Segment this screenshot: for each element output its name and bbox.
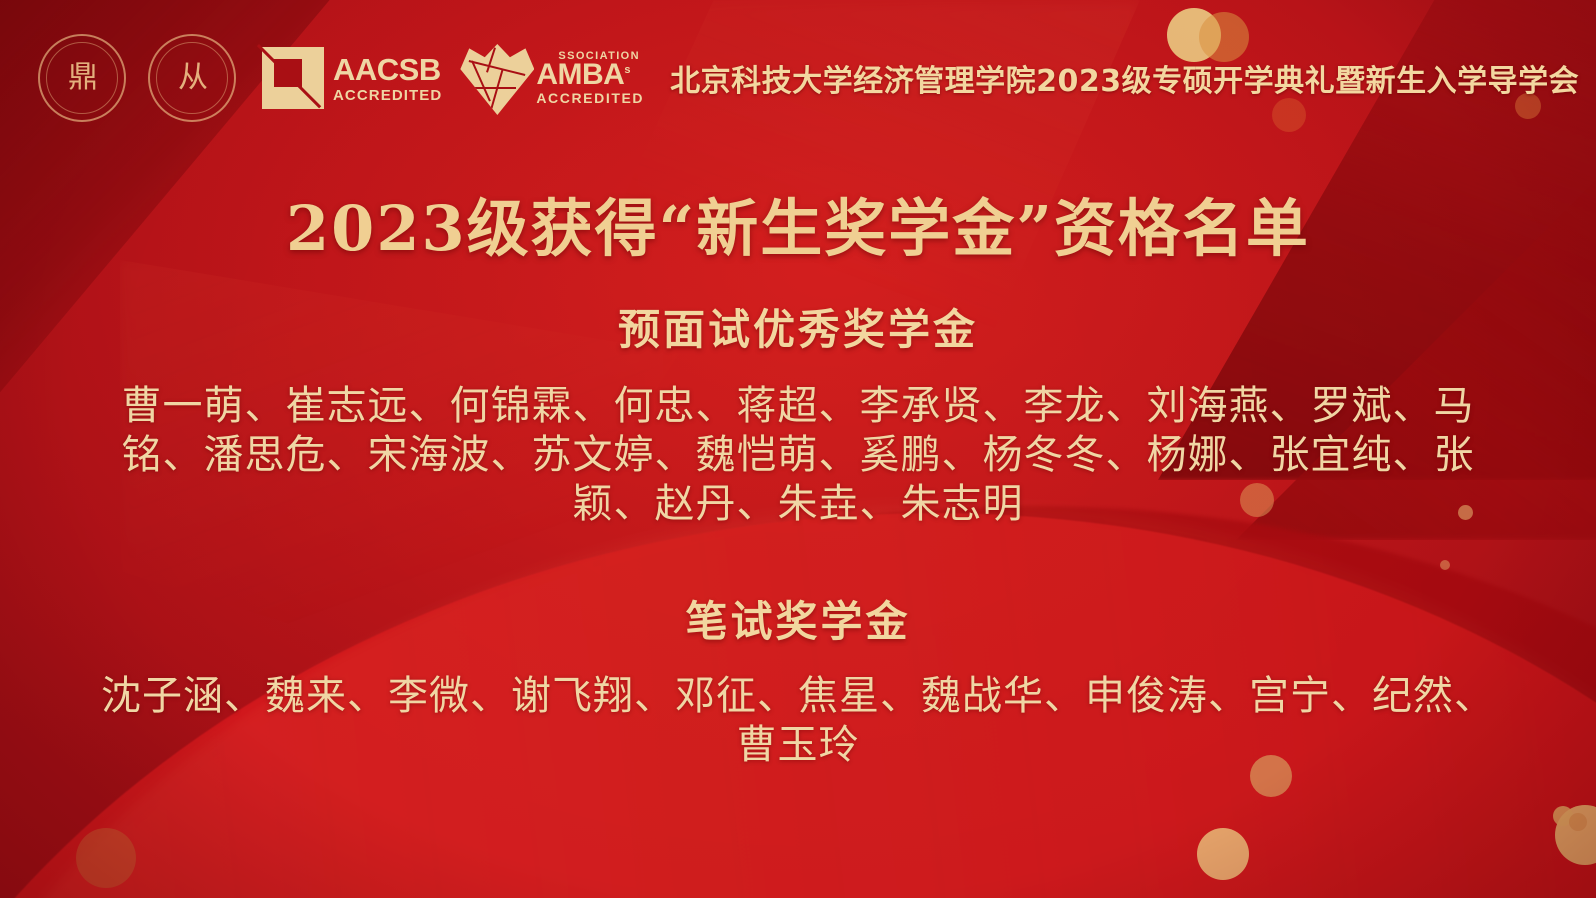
name-list-written-exam: 沈子涵、魏来、李微、谢飞翔、邓征、焦星、魏战华、申俊涛、宫宁、纪然、曹玉玲	[100, 672, 1496, 770]
amba-accredited: ACCREDITED	[536, 91, 644, 105]
slide-canvas: 鼎 从 AACSB ACCREDITED SSOCIATION AMBAs	[0, 0, 1596, 898]
school-seal-icon: 从	[148, 34, 236, 122]
amba-diamond-icon	[460, 41, 534, 115]
university-seal-glyph: 鼎	[68, 63, 96, 93]
aacsb-wordmark: AACSB ACCREDITED	[333, 54, 442, 103]
aacsb-accredited: ACCREDITED	[333, 88, 442, 103]
name-list-pre-interview: 曹一萌、崔志远、何锦霖、何忠、蒋超、李承贤、李龙、刘海燕、罗斌、马铭、潘思危、宋…	[100, 382, 1496, 529]
university-seal-icon: 鼎	[38, 34, 126, 122]
aacsb-name: AACSB	[333, 54, 442, 85]
section-heading-pre-interview: 预面试优秀奖学金	[0, 296, 1596, 357]
amba-name: AMBAs	[536, 60, 644, 90]
amba-logo: SSOCIATION AMBAs ACCREDITED	[460, 41, 644, 115]
aacsb-logo: AACSB ACCREDITED	[262, 47, 442, 109]
section-heading-written-exam: 笔试奖学金	[0, 588, 1596, 649]
page-title: 2023级获得“新生奖学金”资格名单	[0, 178, 1596, 268]
aacsb-mark-icon	[262, 47, 324, 109]
school-seal-glyph: 从	[178, 63, 206, 93]
amba-wordmark: SSOCIATION AMBAs ACCREDITED	[536, 51, 644, 105]
event-title: 北京科技大学经济管理学院2023级专硕开学典礼暨新生入学导学会	[670, 56, 1579, 100]
header-bar: 鼎 从 AACSB ACCREDITED SSOCIATION AMBAs	[0, 36, 1596, 120]
